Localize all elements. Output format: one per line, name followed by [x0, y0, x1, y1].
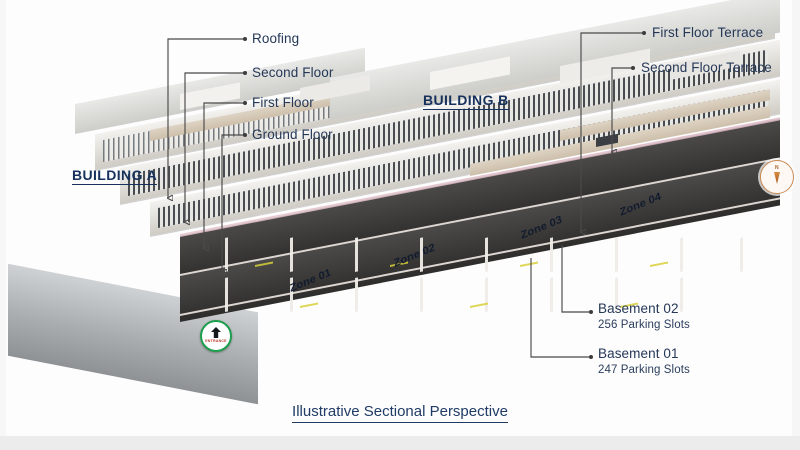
basement-column — [290, 237, 293, 272]
callout-label-basement-02: Basement 02 — [598, 301, 690, 317]
leader-dot-basement-02 — [589, 310, 593, 314]
leader-dot-first-floor-terrace — [642, 31, 646, 35]
basement-column — [225, 277, 228, 312]
leader-dot-ground-floor — [243, 133, 247, 137]
leader-dot-second-floor-terrace — [631, 66, 635, 70]
callout-label-basement-01: Basement 01 — [598, 346, 690, 362]
basement-column — [550, 237, 553, 272]
leader-dot-basement-01 — [589, 355, 593, 359]
figure-caption-text: Illustrative Sectional Perspective — [292, 403, 508, 423]
entrance-badge-label: ENTRANCE — [202, 339, 230, 343]
callout-detail-basement-02: 256 Parking Slots — [598, 319, 690, 332]
parking-bay-marking — [650, 262, 668, 267]
up-arrow-icon — [211, 327, 221, 338]
callout-label-first-floor: First Floor — [252, 95, 314, 111]
compass-north-label: N — [761, 165, 793, 171]
basement-column — [420, 277, 423, 312]
callout-label-second-floor: Second Floor — [252, 65, 334, 81]
entrance-badge-icon: ENTRANCE — [200, 320, 232, 352]
leader-dot-second-floor — [243, 71, 247, 75]
basement-column — [355, 237, 358, 272]
basement-column — [680, 237, 683, 272]
parking-bay-marking — [300, 303, 318, 308]
parking-bay-marking — [520, 262, 538, 267]
basement-column — [740, 237, 743, 272]
callout-label-first-floor-terrace: First Floor Terrace — [652, 25, 763, 41]
building-a-label: BUILDING A — [72, 167, 157, 185]
compass-icon: N — [760, 160, 794, 194]
callout-basement-02: Basement 02 256 Parking Slots — [598, 301, 690, 332]
leader-dot-roofing — [243, 37, 247, 41]
basement-column — [485, 237, 488, 272]
callout-label-second-floor-terrace: Second Floor Terrace — [641, 60, 772, 76]
callout-label-ground-floor: Ground Floor — [252, 127, 333, 143]
basement-column — [355, 277, 358, 312]
bottom-margin-band — [0, 436, 800, 450]
basement-column — [615, 237, 618, 272]
leader-dot-first-floor — [243, 101, 247, 105]
basement-column — [550, 277, 553, 312]
compass-needle-icon — [774, 172, 780, 184]
basement-column — [225, 237, 228, 272]
figure-caption: Illustrative Sectional Perspective — [0, 403, 800, 421]
illustrative-sectional-perspective: Zone 01 Zone 02 Zone 03 Zone 04 Roofi — [0, 0, 800, 450]
callout-label-roofing: Roofing — [252, 31, 299, 47]
building-b-label: BUILDING B — [423, 92, 509, 110]
basement-column — [485, 277, 488, 312]
callout-basement-01: Basement 01 247 Parking Slots — [598, 346, 690, 377]
callout-detail-basement-01: 247 Parking Slots — [598, 364, 690, 377]
